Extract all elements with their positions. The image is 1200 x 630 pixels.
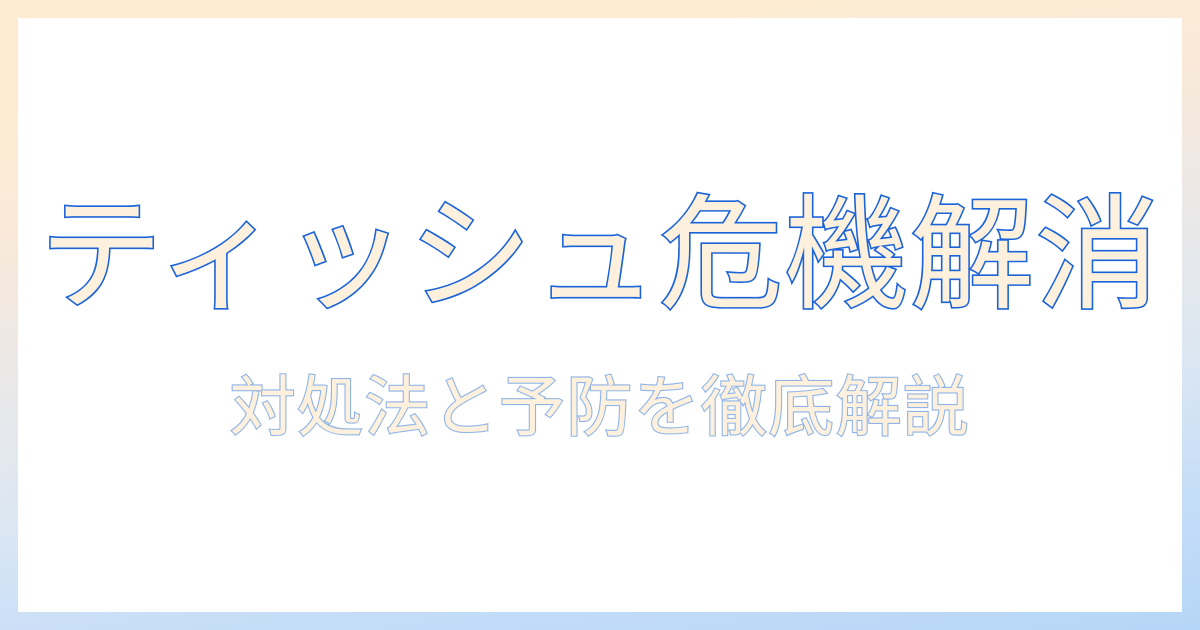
main-title: ティッシュ危機解消 [39,191,1161,322]
headline-block: ティッシュ危機解消 対処法と予防を徹底解説 [18,18,1182,612]
eyecatch-canvas: ティッシュ危機解消 対処法と予防を徹底解説 [0,0,1200,630]
sub-title: 対処法と予防を徹底解説 [230,372,971,445]
white-card: ティッシュ危機解消 対処法と予防を徹底解説 [18,18,1182,612]
